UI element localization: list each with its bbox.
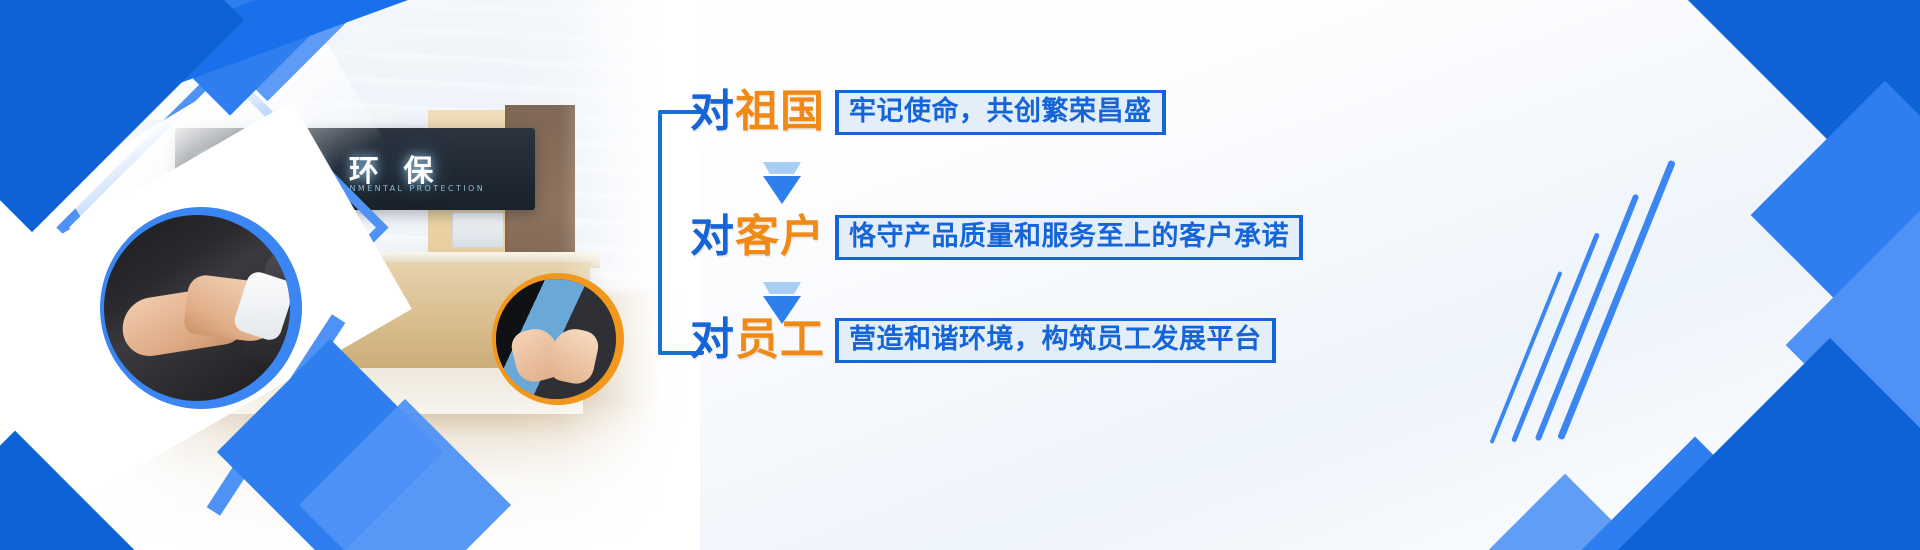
slogan-row-3: 对员工 营造和谐环境，构筑员工发展平台 [690, 318, 1276, 363]
triangle-cap [763, 282, 801, 294]
slogan-tag-text-1: 牢记使命，共创繁荣昌盛 [849, 96, 1152, 127]
slogan-prefix-1: 对 [690, 86, 735, 137]
tag-border-right [1272, 318, 1276, 363]
slogan-keyword-3: 对员工 [690, 318, 825, 362]
applause-photo [496, 279, 616, 399]
decor-diagonal-line [1535, 194, 1640, 442]
tag-border-right [1299, 215, 1303, 260]
tag-border-bottom [835, 257, 1303, 260]
slogan-tag-text-3: 营造和谐环境，构筑员工发展平台 [849, 324, 1262, 355]
decor-diagonal-line [1511, 232, 1600, 442]
decor-diagonal-line [1557, 160, 1676, 441]
tag-border-bottom [835, 132, 1166, 135]
slogan-keyword-2: 对客户 [690, 215, 825, 259]
slogan-block: 对祖国 牢记使命，共创繁荣昌盛 对客户 恪守产品质量和服务至上的客户承诺 [650, 0, 1370, 550]
decor-diagonal-line [1489, 271, 1562, 444]
handshake-photo [104, 215, 290, 401]
corporate-banner: 宏 森 环 保 HONGSEN ENVIRONMENTAL PROTECTION [0, 0, 1920, 550]
slogan-highlight-2: 客户 [735, 211, 825, 262]
triangle-down-icon [760, 162, 804, 204]
slogan-tag-2: 恪守产品质量和服务至上的客户承诺 [835, 215, 1303, 260]
triangle-tip [763, 176, 801, 204]
slogan-tag-text-2: 恪守产品质量和服务至上的客户承诺 [849, 221, 1289, 252]
tag-border-right [1162, 90, 1166, 135]
slogan-prefix-2: 对 [690, 211, 735, 262]
slogan-row-1: 对祖国 牢记使命，共创繁荣昌盛 [690, 90, 1166, 135]
tag-border-bottom [835, 360, 1276, 363]
slogan-prefix-3: 对 [690, 314, 735, 365]
slogan-highlight-1: 祖国 [735, 86, 825, 137]
slogan-highlight-3: 员工 [735, 314, 825, 365]
slogan-row-2: 对客户 恪守产品质量和服务至上的客户承诺 [690, 215, 1303, 260]
triangle-cap [763, 162, 801, 174]
monitor [452, 212, 504, 248]
slogan-tag-1: 牢记使命，共创繁荣昌盛 [835, 90, 1166, 135]
slogan-tag-3: 营造和谐环境，构筑员工发展平台 [835, 318, 1276, 363]
slogan-keyword-1: 对祖国 [690, 90, 825, 134]
